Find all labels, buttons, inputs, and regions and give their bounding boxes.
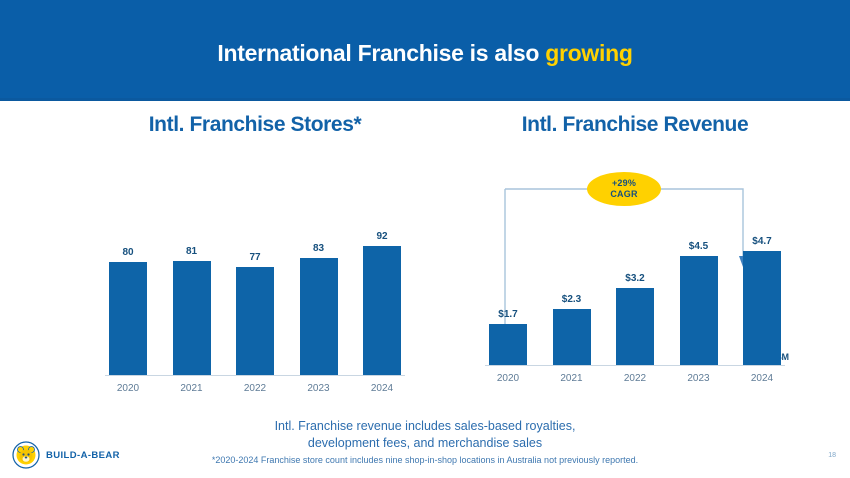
x-axis-line-revenue — [485, 365, 785, 366]
x-axis-label: 2024 — [739, 373, 785, 384]
page-title: International Franchise is also growing — [0, 40, 850, 67]
bar-value-label: 83 — [313, 243, 324, 254]
bar — [363, 246, 401, 375]
plot-area-stores: 8081778392 20202021202220232024 — [105, 168, 405, 398]
bar-value-label: $4.7 — [752, 236, 771, 247]
x-axis-label: 2023 — [676, 373, 722, 384]
x-axis-label: 2020 — [105, 383, 151, 394]
footnote: *2020-2024 Franchise store count include… — [0, 455, 850, 465]
x-axis-label: 2022 — [232, 383, 278, 394]
plot-area-revenue: +29% CAGR $M $1.7$2.3$3.2$4.5$4.7 202020… — [485, 158, 785, 388]
x-axis-labels-revenue: 20202021202220232024 — [485, 368, 785, 388]
chart-panel-stores: Intl. Franchise Stores* 8081778392 20202… — [70, 110, 440, 395]
bar — [300, 258, 338, 375]
bar-column: 77 — [232, 190, 278, 375]
bar-value-label: $4.5 — [689, 241, 708, 252]
bar-column: $4.5 — [676, 180, 722, 365]
page-number: 18 — [828, 452, 836, 459]
bar-group-stores: 8081778392 — [105, 190, 405, 375]
x-axis-label: 2023 — [296, 383, 342, 394]
bar — [236, 267, 274, 375]
bar-column: $3.2 — [612, 180, 658, 365]
bar-value-label: $3.2 — [625, 273, 644, 284]
x-axis-line-stores — [105, 375, 405, 376]
chart-panel-revenue: Intl. Franchise Revenue +29% CAGR $M $1.… — [450, 110, 820, 395]
header-underline — [0, 98, 850, 101]
bar-column: $2.3 — [549, 180, 595, 365]
page-title-highlight: growing — [545, 40, 632, 66]
bar-group-revenue: $1.7$2.3$3.2$4.5$4.7 — [485, 180, 785, 365]
caption: Intl. Franchise revenue includes sales-b… — [0, 418, 850, 452]
bar-column: $4.7 — [739, 180, 785, 365]
bar-column: 83 — [296, 190, 342, 375]
caption-line-1: Intl. Franchise revenue includes sales-b… — [0, 418, 850, 435]
bar — [553, 309, 591, 365]
bar — [680, 256, 718, 365]
caption-line-2: development fees, and merchandise sales — [0, 435, 850, 452]
bar — [109, 262, 147, 375]
bar — [616, 288, 654, 365]
x-axis-label: 2024 — [359, 383, 405, 394]
bar-column: $1.7 — [485, 180, 531, 365]
bar — [489, 324, 527, 365]
bar-value-label: $1.7 — [498, 309, 517, 320]
bear-badge-icon — [12, 441, 40, 469]
chart-title-revenue: Intl. Franchise Revenue — [450, 110, 820, 140]
bar-column: 81 — [169, 190, 215, 375]
x-axis-labels-stores: 20202021202220232024 — [105, 378, 405, 398]
x-axis-label: 2021 — [549, 373, 595, 384]
bar-value-label: 77 — [249, 252, 260, 263]
bar-value-label: $2.3 — [562, 294, 581, 305]
bar-column: 80 — [105, 190, 151, 375]
brand-logo: BUILD-A-BEAR — [12, 441, 120, 469]
bar-value-label: 80 — [122, 247, 133, 258]
x-axis-label: 2020 — [485, 373, 531, 384]
slide: International Franchise is also growing … — [0, 0, 850, 478]
bar — [743, 251, 781, 365]
bar-column: 92 — [359, 190, 405, 375]
bar — [173, 261, 211, 375]
brand-name: BUILD-A-BEAR — [46, 450, 120, 461]
bar-value-label: 92 — [376, 231, 387, 242]
page-title-main: International Franchise is also — [217, 40, 539, 66]
chart-title-stores: Intl. Franchise Stores* — [70, 110, 440, 140]
x-axis-label: 2021 — [169, 383, 215, 394]
x-axis-label: 2022 — [612, 373, 658, 384]
bar-value-label: 81 — [186, 246, 197, 257]
